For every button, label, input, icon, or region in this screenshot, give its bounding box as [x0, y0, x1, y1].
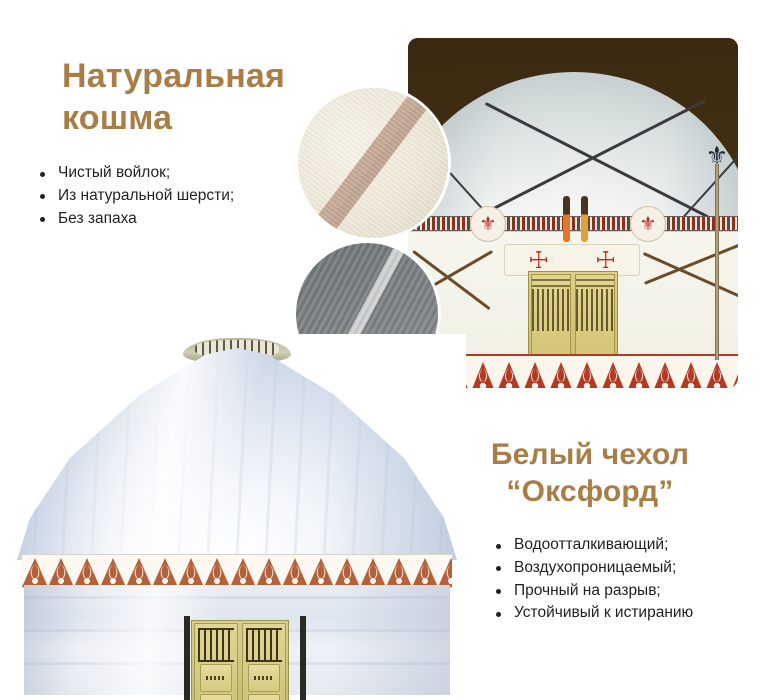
list-item: Воздухопроницаемый;: [492, 557, 693, 580]
yurt-roof-shading: [17, 348, 457, 560]
yurt-door: [191, 620, 289, 700]
door-tassel: [581, 196, 588, 242]
felt-section-heading: Натуральная кошма: [62, 55, 285, 139]
list-item: Без запаха: [36, 208, 234, 231]
white-oxford-yurt-photo: [8, 334, 466, 700]
felt-section-bullet-list: Чистый войлок; Из натуральной шерсти; Бе…: [36, 162, 234, 230]
woven-band: [408, 216, 738, 231]
list-item: Устойчивый к истиранию: [492, 602, 693, 625]
list-item: Из натуральной шерсти;: [36, 185, 234, 208]
flag-pole: [715, 164, 719, 360]
door-slats: [246, 628, 282, 662]
koshkar-muiz-ram-horn-band: [22, 554, 452, 588]
door-panel: [248, 664, 280, 692]
list-item: Прочный на разрыв;: [492, 580, 693, 603]
door-panel: [200, 694, 232, 700]
ram-horn-glyph: ☩: [528, 249, 549, 272]
felt-texture: [298, 88, 448, 238]
top-band-ornament-svg: [22, 555, 452, 587]
door-panel: [200, 664, 232, 692]
cover-section-heading: Белый чехол “Оксфорд”: [462, 436, 718, 510]
list-item: Водоотталкивающий;: [492, 534, 693, 557]
door-panel: [248, 694, 280, 700]
spear-finial-icon: ⚜: [705, 144, 729, 170]
ornament-medallion: ⚜: [470, 206, 506, 242]
door-tassel: [563, 196, 570, 242]
white-felt-closeup: [298, 88, 448, 238]
door-leaf-left: [194, 623, 238, 700]
ram-horn-glyph: ☩: [595, 249, 616, 272]
cover-section-bullet-list: Водоотталкивающий; Воздухопроницаемый; П…: [492, 534, 693, 625]
ornament-medallion: ⚜: [630, 206, 666, 242]
door-leaf-right: [242, 623, 286, 700]
door-slats: [198, 628, 234, 662]
poster-canvas: ⚜ ⚜ ☩ ☩: [0, 0, 769, 700]
list-item: Чистый войлок;: [36, 162, 234, 185]
